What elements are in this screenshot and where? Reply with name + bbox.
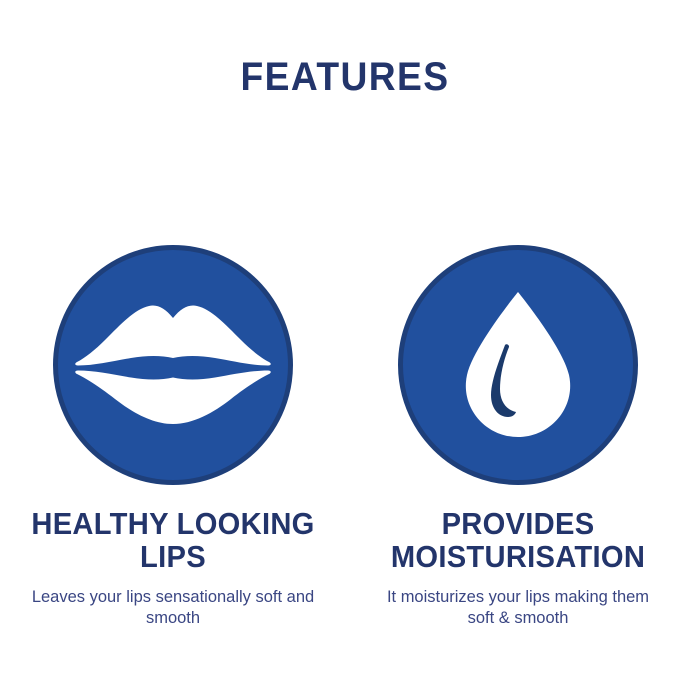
feature-caption: Leaves your lips sensationally soft and … — [17, 586, 327, 629]
feature-card-provides-moisturisation: PROVIDES MOISTURISATION It moisturizes y… — [345, 245, 690, 628]
features-infographic: FEATURES HEALTHY LOOKING LIPS Leaves you… — [0, 0, 690, 700]
water-droplet-icon-badge — [398, 245, 638, 485]
feature-caption: It moisturizes your lips making them sof… — [372, 586, 663, 629]
feature-card-healthy-looking-lips: HEALTHY LOOKING LIPS Leaves your lips se… — [0, 245, 345, 628]
water-droplet-icon — [459, 289, 577, 441]
features-row: HEALTHY LOOKING LIPS Leaves your lips se… — [0, 245, 690, 628]
feature-heading: HEALTHY LOOKING LIPS — [17, 507, 327, 574]
lips-icon-badge — [53, 245, 293, 485]
page-title: FEATURES — [24, 57, 666, 97]
feature-heading: PROVIDES MOISTURISATION — [362, 507, 672, 574]
lips-icon — [73, 300, 273, 430]
